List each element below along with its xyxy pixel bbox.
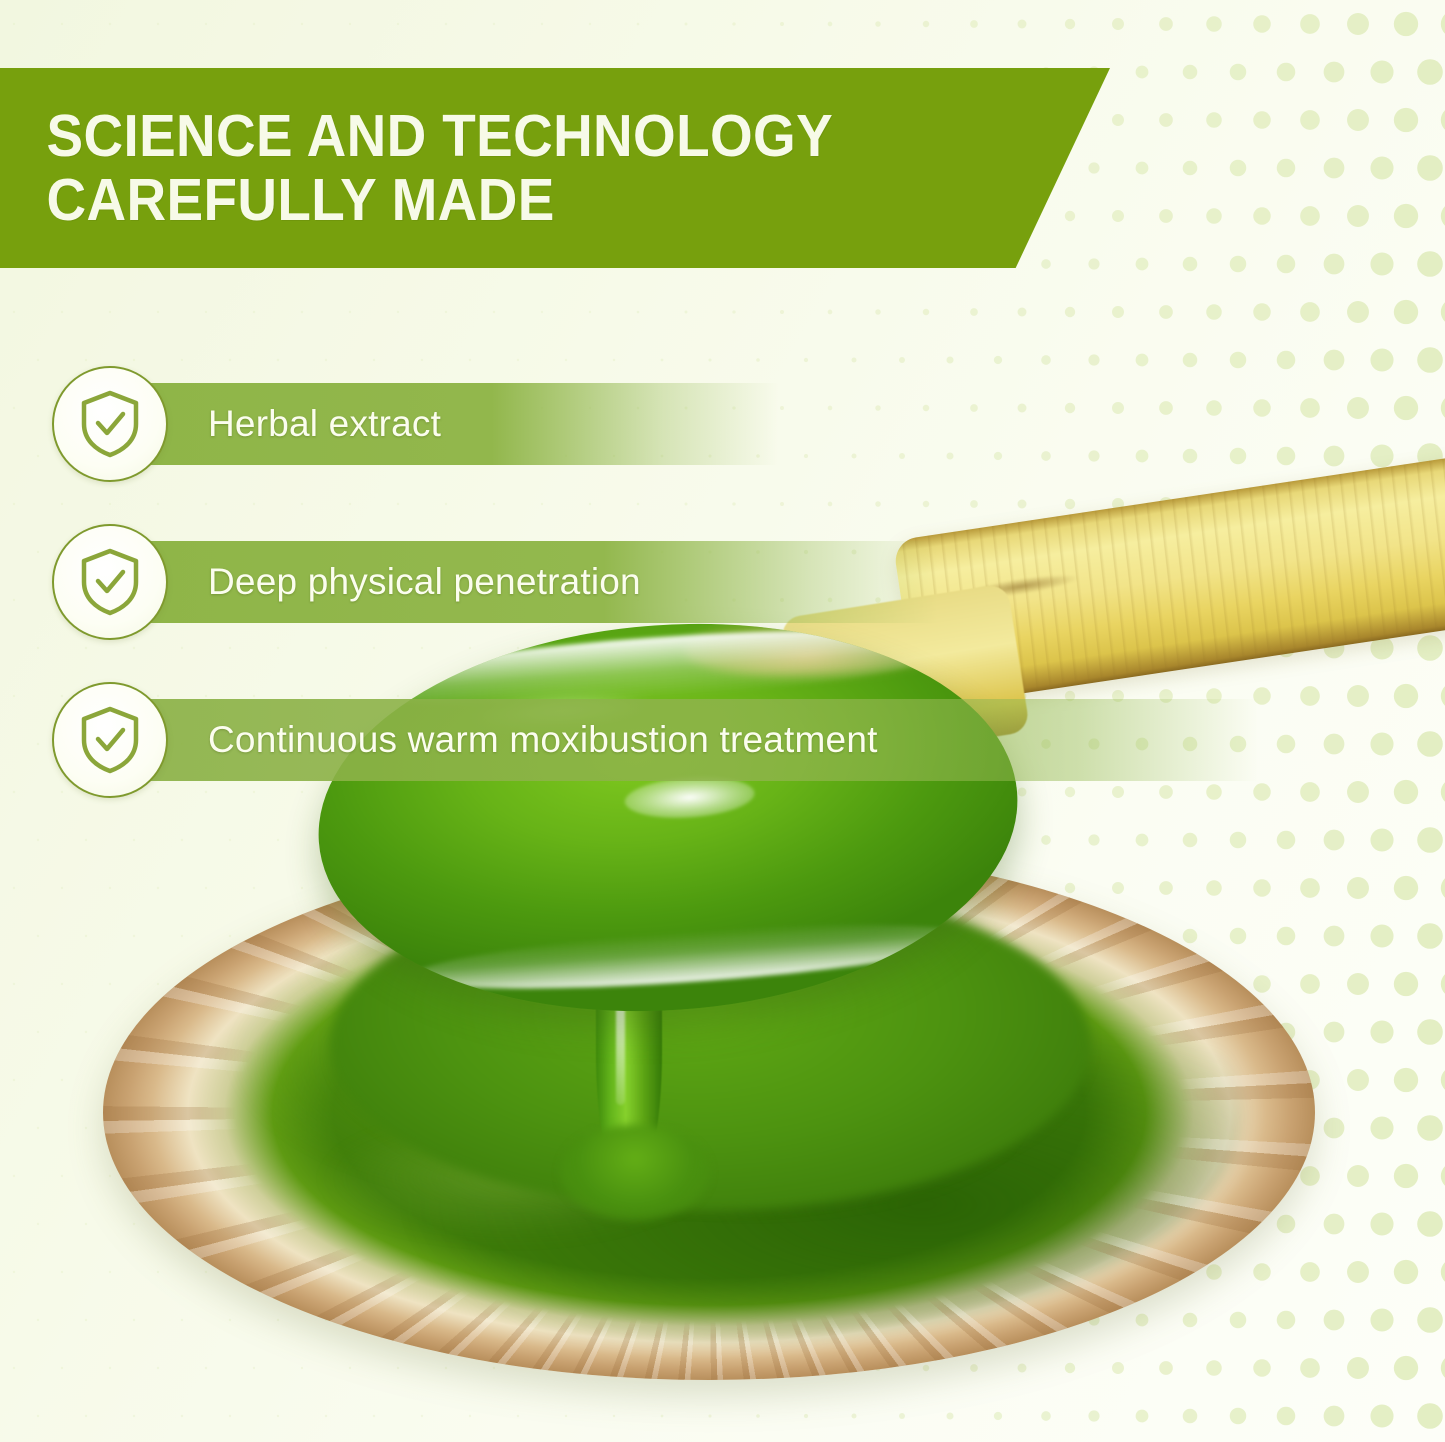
- feature-label-pill: Continuous warm moxibustion treatment: [142, 699, 1258, 781]
- feature-item: Deep physical penetration: [52, 530, 938, 634]
- shield-check-icon: [52, 524, 168, 640]
- product-feature-graphic: SCIENCE AND TECHNOLOGY CAREFULLY MADE He…: [0, 0, 1445, 1442]
- feature-label-pill: Deep physical penetration: [142, 541, 938, 623]
- feature-list: Herbal extract Deep physical penetration: [0, 0, 1445, 1442]
- feature-label-pill: Herbal extract: [142, 383, 778, 465]
- feature-label: Continuous warm moxibustion treatment: [208, 719, 878, 761]
- feature-item: Herbal extract: [52, 372, 778, 476]
- shield-check-icon: [52, 682, 168, 798]
- feature-item: Continuous warm moxibustion treatment: [52, 688, 1258, 792]
- shield-check-icon: [52, 366, 168, 482]
- feature-label: Herbal extract: [208, 403, 441, 445]
- feature-label: Deep physical penetration: [208, 561, 641, 603]
